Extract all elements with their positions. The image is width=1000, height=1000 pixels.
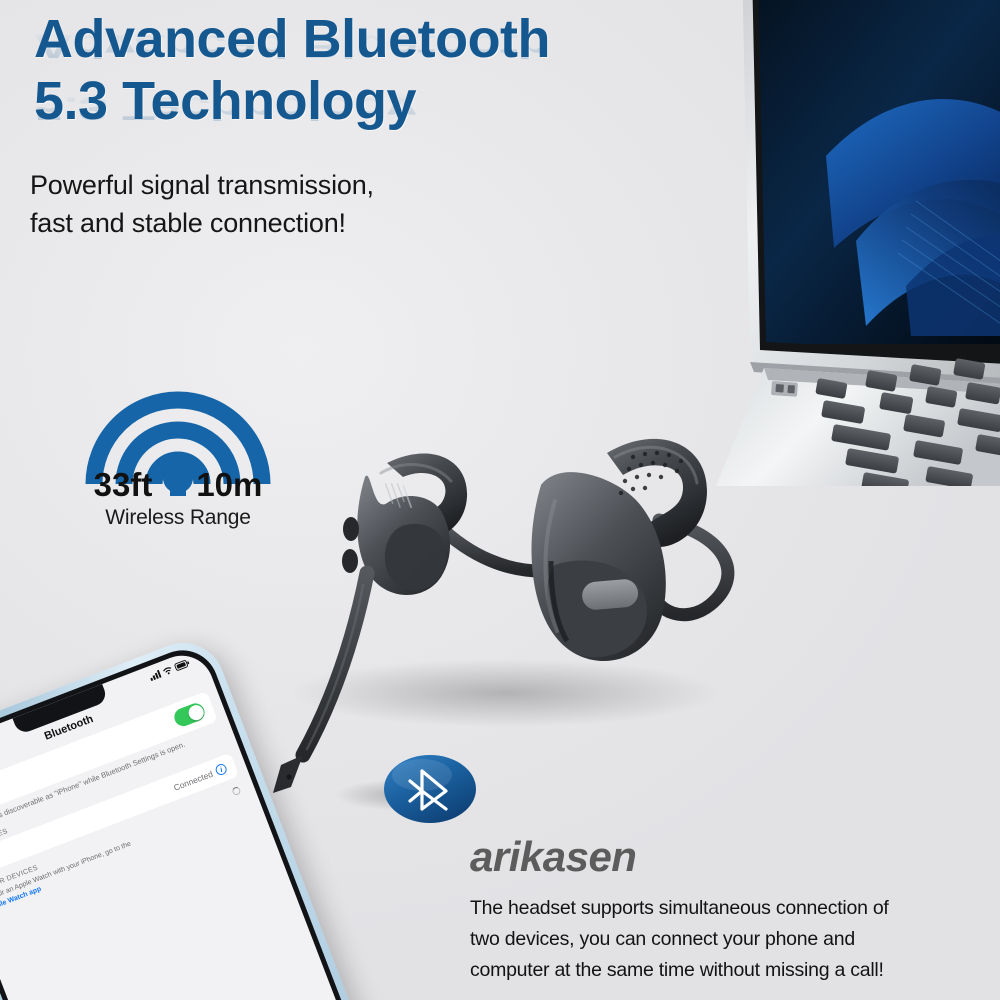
control-button-down [342, 549, 358, 573]
subheadline-line-1: Powerful signal transmission, [30, 166, 374, 204]
device-status-label: Connected [172, 768, 214, 792]
wifi-icon [162, 665, 174, 676]
subheadline-line-2: fast and stable connection! [30, 204, 374, 242]
signal-icon [148, 670, 161, 681]
wireless-range-badge: 33ft 10m Wireless Range [78, 366, 278, 530]
brand-description: The headset supports simultaneous connec… [470, 893, 1000, 986]
toggle-knob [186, 703, 205, 722]
subheadline-block: Powerful signal transmission, fast and s… [30, 166, 374, 242]
brand-description-line-1: The headset supports simultaneous connec… [470, 893, 1000, 924]
wireless-range-values: 33ft 10m [78, 466, 278, 504]
headline-block: Advanced Bluetooth Advanced Bluetooth 5.… [34, 10, 694, 134]
microphone-port-icon [286, 774, 291, 779]
right-earhook [531, 439, 707, 661]
headline-line-1: Advanced Bluetooth [34, 10, 694, 68]
battery-icon [174, 659, 191, 672]
wireless-range-meters: 10m [196, 466, 262, 504]
bluetooth-toggle-switch[interactable] [172, 701, 207, 729]
headline-line-2: 5.3 Technology [34, 72, 694, 130]
brand-description-line-2: two devices, you can connect your phone … [470, 924, 1000, 955]
loading-spinner-icon [231, 786, 241, 796]
wireless-range-label: Wireless Range [78, 506, 278, 530]
bluetooth-logo-badge [382, 751, 478, 832]
product-marketing-image: Advanced Bluetooth Advanced Bluetooth 5.… [0, 0, 1000, 1000]
nav-spacer [166, 678, 200, 691]
bluetooth-icon [382, 751, 478, 827]
headline-line-1-wrap: Advanced Bluetooth Advanced Bluetooth [34, 10, 694, 72]
headline-line-2-wrap: 5.3 Technology 5.3 Technology [34, 72, 694, 134]
info-circle-icon[interactable]: i [214, 762, 228, 776]
brand-name: arikasen [470, 833, 636, 881]
control-button-up [343, 517, 359, 541]
brand-description-line-3: computer at the same time without missin… [470, 955, 1000, 986]
laptop-svg [706, 0, 1000, 486]
headset-svg [255, 415, 775, 835]
wireless-range-feet: 33ft [94, 466, 153, 504]
headset-image [255, 415, 775, 840]
